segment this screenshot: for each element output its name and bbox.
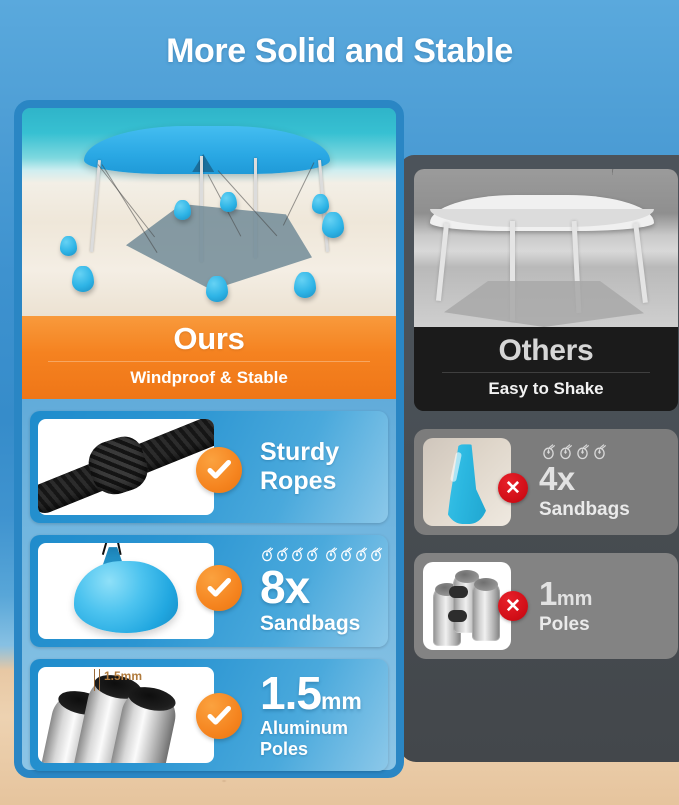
sandbag-weight (60, 236, 77, 256)
check-icon (196, 693, 242, 739)
pole-tube-icon (472, 579, 500, 641)
page-title: More Solid and Stable (0, 32, 679, 71)
ours-poles-image: 1.5mm (38, 667, 214, 763)
ours-label-bar: Ours Windproof & Stable (22, 316, 396, 399)
sandbag-weight (72, 266, 94, 292)
ours-feature-ropes: Sturdy Ropes (30, 411, 388, 523)
sandbag-weight (174, 200, 191, 220)
sandbag-icon (541, 444, 556, 461)
canopy-leg-icon (633, 223, 648, 303)
sandbag-icon (324, 547, 338, 563)
sandbag-icon (558, 444, 573, 461)
ours-poles-caption: Aluminum Poles (260, 718, 380, 760)
ours-feature-poles: 1.5mm 1.5mm Aluminum Poles (30, 659, 388, 771)
pole-connector-icon (448, 610, 467, 622)
check-icon (196, 447, 242, 493)
others-poles-text: 1mm Poles (539, 577, 669, 637)
sandbag-weight (220, 192, 237, 212)
ours-sandbags-caption: Sandbags (260, 612, 383, 636)
ours-ropes-text: Sturdy Ropes (260, 438, 380, 496)
others-sandbags-text: 4x Sandbags (539, 444, 669, 522)
others-column: Others Easy to Shake ✕ 4x Sandbags (400, 155, 679, 762)
sandbag-weight (312, 194, 329, 214)
caliper-mark (94, 669, 95, 691)
others-sandbags-count: 4x (539, 462, 669, 495)
canopy-pole-icon (90, 160, 101, 252)
ours-column: Ours Windproof & Stable Sturdy Ropes (14, 100, 404, 778)
check-glyph (205, 574, 233, 602)
check-glyph (205, 702, 233, 730)
check-icon (196, 565, 242, 611)
guy-rope (102, 164, 158, 253)
sandbag-weight (322, 212, 344, 238)
check-glyph (205, 456, 233, 484)
sandbag-weight (294, 272, 316, 298)
cross-icon: ✕ (498, 591, 528, 621)
sandbag-icon (575, 444, 590, 461)
ours-poles-thickness: 1.5mm (260, 670, 380, 716)
others-feature-poles: ✕ 1mm Poles (414, 553, 678, 659)
others-feature-sandbags: ✕ 4x Sandbags (414, 429, 678, 535)
canopy-shadow (444, 281, 644, 327)
others-title: Others (414, 335, 678, 367)
canopy-shape-icon (84, 126, 330, 174)
ours-sandbag-image (38, 543, 214, 639)
canopy-leg-icon (436, 223, 449, 301)
others-poles-thickness: 1mm (539, 577, 669, 610)
sandbag-icon (369, 547, 383, 563)
sandbag-count-icons (539, 444, 669, 461)
cross-icon: ✕ (498, 473, 528, 503)
sandbag-icon (339, 547, 353, 563)
pole-connector-icon (449, 586, 468, 598)
others-subtitle: Easy to Shake (414, 379, 678, 399)
others-hero-image (414, 169, 678, 327)
sandbag-icon (354, 547, 368, 563)
ours-title: Ours (22, 322, 396, 356)
divider (442, 372, 650, 373)
others-label-bar: Others Easy to Shake (414, 327, 678, 411)
thickness-annotation: 1.5mm (104, 669, 142, 683)
ours-subtitle: Windproof & Stable (22, 368, 396, 388)
sandbag-body (74, 561, 178, 633)
caliper-mark (99, 669, 100, 691)
ours-poles-text: 1.5mm Aluminum Poles (260, 670, 380, 760)
divider (48, 361, 370, 362)
sandbag-weight (206, 276, 228, 302)
others-hero-card: Others Easy to Shake (414, 169, 678, 411)
ours-hero-card: Ours Windproof & Stable (22, 108, 396, 399)
sandbag-icon (592, 444, 607, 461)
ours-ropes-title-line2: Ropes (260, 467, 380, 496)
ours-sandbags-count: 8x (260, 564, 383, 610)
guy-rope (98, 164, 155, 237)
ours-ropes-title-line1: Sturdy (260, 438, 380, 467)
sandbag-shape-icon (443, 444, 489, 524)
ours-feature-sandbags: 8x Sandbags (30, 535, 388, 647)
others-poles-caption: Poles (539, 613, 669, 637)
others-sandbags-caption: Sandbags (539, 498, 669, 522)
ours-rope-image (38, 419, 214, 515)
ours-sandbags-text: 8x Sandbags (260, 547, 383, 636)
ours-hero-image (22, 108, 396, 316)
